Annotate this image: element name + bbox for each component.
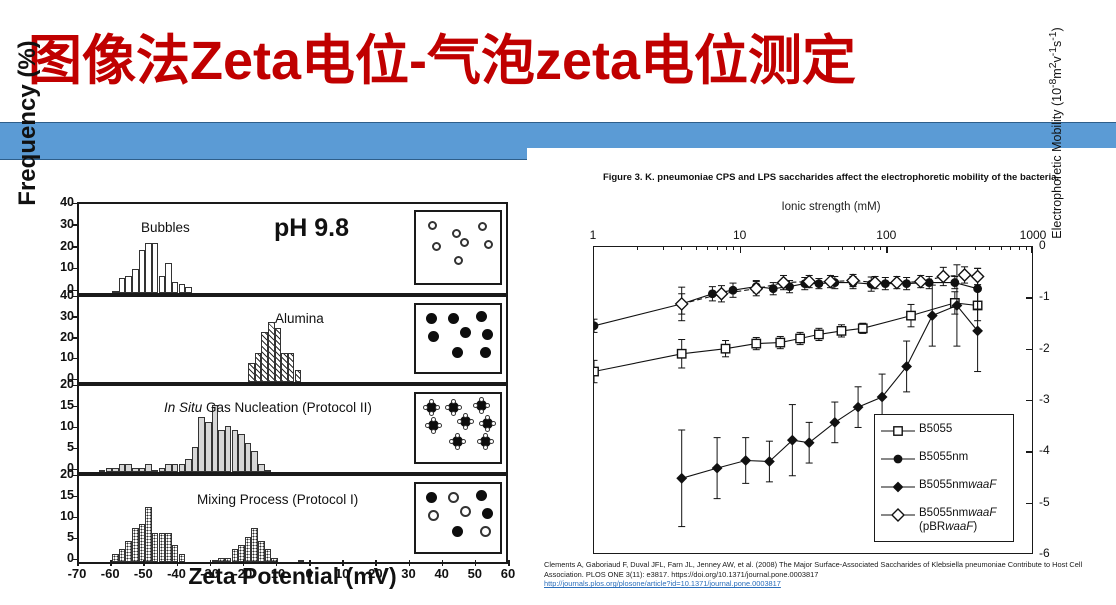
inset-satellite [479,397,484,402]
inset-particle [476,490,487,501]
series-4 [676,267,984,314]
histogram-bar [152,470,159,472]
x-tick-label: -70 [62,566,92,581]
reference-line-1: Clements A, Gaboriaud F, Duval JFL, Farn… [544,560,963,569]
histogram-bar [281,353,288,382]
x-minor-tick [696,246,697,250]
electrophoretic-mobility-figure: Figure 3. K. pneumoniae CPS and LPS sacc… [540,172,1116,605]
histogram-bar [172,464,179,472]
x-minor-tick [828,246,829,250]
data-point-marker [893,482,904,493]
y-tick-label: 40 [40,195,74,209]
histogram-bar [298,560,305,562]
y-tick-mark [1026,451,1033,452]
histogram-bar [165,263,172,293]
data-point-marker [815,330,823,338]
y-tick-label: 0 [40,551,74,565]
histogram-panel-2: Alumina [77,295,508,384]
x-minor-tick [854,246,855,250]
plot-legend: B5055B5055nmB5055nmwaaFB5055nmwaaF(pBRwa… [874,414,1014,542]
reference-block: Clements A, Gaboriaud F, Duval JFL, Farn… [544,560,1112,589]
data-point-marker [712,463,723,474]
data-point-marker [853,402,864,413]
inset-satellite [455,445,460,450]
histogram-bar [179,284,186,293]
histogram-bar [232,549,239,562]
y-tick-label: 10 [40,260,74,274]
y-tick-mark [73,385,78,387]
histogram-bar [265,470,272,472]
inset-satellite [469,419,474,424]
y-tick-mark [73,427,78,429]
histogram-bar [255,353,262,382]
data-point-marker [721,344,729,352]
data-point-marker [676,298,688,310]
inset-particle [460,238,469,247]
x-tick-label: 20 [360,566,390,581]
y-tick-mark [73,203,78,205]
x-tick-label: 10 [327,566,357,581]
histogram-bar [152,243,159,293]
x-minor-tick [637,246,638,250]
x-minor-tick [717,246,718,250]
inset-particle-box-4 [414,482,502,554]
x-tick-label: -20 [228,566,258,581]
data-point-marker [676,473,687,484]
x-tick-label: -30 [195,566,225,581]
x-minor-tick [842,246,843,250]
histogram-bar [119,549,126,562]
inset-satellite [473,403,478,408]
data-point-marker [715,288,727,300]
inset-particle-box-1 [414,210,502,285]
y-tick-mark [73,496,78,498]
inset-satellite [429,411,434,416]
histogram-bar [185,287,192,294]
x-minor-tick [810,246,811,250]
y-tick-label: 5 [40,530,74,544]
histogram-bar [152,533,159,562]
data-point-marker [594,367,598,375]
data-point-marker [752,339,760,347]
inset-satellite [489,439,494,444]
data-point-marker [894,427,902,435]
legend-label-4: B5055nmwaaF [919,507,996,519]
histogram-bar [125,276,132,293]
histogram-bar [275,328,282,382]
x-minor-tick [956,246,957,250]
inset-particle [452,347,463,358]
legend-label-3: B5055nmwaaF [919,479,996,491]
accent-bar-extension [527,122,1116,148]
inset-satellite [455,433,460,438]
x-minor-tick [733,246,734,250]
inset-particle-box-3 [414,392,502,464]
histogram-bar [145,464,152,472]
histogram-bar [198,417,205,472]
data-point-marker [894,455,903,464]
legend-marker-open-diamond [881,507,915,523]
x-tick-label: 30 [394,566,424,581]
histogram-panel-4: Mixing Process (Protocol I) [77,474,508,564]
y-tick-label: -5 [1039,495,1050,509]
y-tick-mark [73,246,78,248]
inset-satellite [449,439,454,444]
legend-label-4-line2: (pBRwaaF) [919,521,977,533]
x-tick-label: 40 [427,566,457,581]
histogram-bar [159,276,166,293]
x-minor-tick [989,246,990,250]
legend-marker-filled-diamond [881,479,915,495]
x-tick-label: 60 [493,566,523,581]
inset-satellite [479,421,484,426]
series-1 [594,290,982,383]
x-minor-tick [663,246,664,250]
data-point-marker [740,455,751,466]
histogram-bar [165,533,172,562]
histogram-bar [125,541,132,562]
y-tick-mark [73,316,78,318]
data-point-marker [837,327,845,335]
histogram-bar [251,451,258,472]
inset-satellite [461,439,466,444]
x-tick-label: 10 [720,228,760,242]
histogram-bar [288,353,295,382]
histogram-bar [218,558,225,562]
x-tick-label: -10 [261,566,291,581]
inset-satellite [451,411,456,416]
histogram-bar [251,528,258,562]
inset-satellite [485,415,490,420]
y-tick-mark [1026,297,1033,298]
data-point-marker [891,277,903,289]
histogram-bar [145,507,152,562]
data-point-marker [776,338,784,346]
histogram-bar [172,282,179,293]
y-tick-mark [73,475,78,477]
y-tick-mark [1026,400,1033,401]
right-figure-y-axis-label: Electrophoretic Mobility (10-8m2v-1s-1) [1048,0,1064,268]
data-point-marker [796,334,804,342]
histogram-bar [238,434,245,472]
inset-particle-box-2 [414,303,502,374]
x-minor-tick [681,246,682,250]
y-tick-mark [73,448,78,450]
histogram-bar [258,464,265,472]
data-point-marker [907,311,915,319]
inset-satellite [423,405,428,410]
data-point-marker [892,509,904,521]
data-point-marker [937,270,949,282]
inset-satellite [425,423,430,428]
histogram-bar [139,250,146,294]
histogram-bar [139,524,146,562]
page-title: 图像法Zeta电位-气泡zeta电位测定 [28,22,1088,100]
x-tick-mark [886,246,887,253]
inset-satellite [483,433,488,438]
histogram-bar [112,468,119,472]
histogram-bar [159,468,166,472]
x-tick-label: 0 [294,566,324,581]
y-tick-label: -6 [1039,546,1050,560]
inset-particle [480,526,491,537]
histogram-bar [218,430,225,472]
y-tick-mark [1026,553,1033,554]
legend-marker-filled-circle [881,451,915,467]
legend-label-1: B5055 [919,423,952,435]
x-minor-tick [1001,246,1002,250]
panel-label-4: Mixing Process (Protocol I) [197,492,358,507]
y-tick-label: -3 [1039,392,1050,406]
histogram-bar [225,426,232,472]
data-point-marker [950,278,959,287]
inset-satellite [431,417,436,422]
x-minor-tick [784,246,785,250]
histogram-bar [245,443,252,472]
inset-particle [428,221,437,230]
ionic-strength-axis-label: Ionic strength (mM) [550,201,1112,213]
mobility-plot-area: B5055B5055nmB5055nmwaaFB5055nmwaaF(pBRwa… [593,246,1033,554]
x-minor-tick [707,246,708,250]
inset-particle [478,222,487,231]
histogram-bar [112,291,119,293]
y-tick-mark [73,358,78,360]
ph-annotation: pH 9.8 [274,214,349,243]
histogram-bar [179,464,186,472]
inset-particle [482,329,493,340]
y-tick-label: 30 [40,309,74,323]
x-tick-label: 50 [460,566,490,581]
inset-particle [484,240,493,249]
inset-satellite [445,405,450,410]
reference-doi-link[interactable]: http://journals.plos.org/plosone/article… [544,579,1112,589]
x-tick-label: 1 [573,228,613,242]
data-point-marker [959,269,971,281]
inset-satellite [457,419,462,424]
data-point-marker [927,310,938,321]
histogram-bar [245,537,252,562]
data-point-marker [859,324,867,332]
histogram-bar [268,322,275,382]
histogram-bar [139,468,146,472]
y-tick-label: 15 [40,488,74,502]
inset-satellite [477,439,482,444]
histogram-bar [99,470,106,472]
series-line [594,283,978,326]
data-point-marker [815,279,824,288]
data-point-marker [729,286,738,295]
data-point-marker [847,275,859,287]
data-point-marker [915,276,927,288]
legend-marker-open-square [881,423,915,439]
data-point-marker [972,270,984,282]
data-point-marker [594,321,598,330]
inset-particle [452,229,461,238]
y-tick-label: -2 [1039,341,1050,355]
panel-label-1: Bubbles [141,220,190,235]
histogram-bar [119,278,126,293]
x-tick-mark [593,246,594,253]
histogram-bar [132,269,139,293]
x-tick-label: 100 [866,228,906,242]
y-tick-mark [1026,503,1033,504]
data-point-marker [902,279,911,288]
x-tick-label: -50 [128,566,158,581]
inset-particle [448,313,459,324]
y-tick-mark [73,517,78,519]
inset-satellite [431,429,436,434]
inset-particle [460,327,471,338]
histogram-bar [205,422,212,472]
inset-particle [480,347,491,358]
histogram-bar [106,468,113,472]
data-point-marker [881,279,890,288]
y-tick-mark [73,224,78,226]
histogram-bar [258,541,265,562]
inset-satellite [485,403,490,408]
data-point-marker [829,417,840,428]
inset-satellite [479,409,484,414]
histogram-bar [125,464,132,472]
data-point-marker [678,350,686,358]
x-minor-tick [880,246,881,250]
x-minor-tick [864,246,865,250]
y-tick-label: 10 [40,419,74,433]
y-tick-mark [73,296,78,298]
panel-label-2: Alumina [275,311,324,326]
histogram-bar [119,464,126,472]
inset-particle [460,506,471,517]
y-tick-label: 15 [40,398,74,412]
histogram-panel-3: In Situ Gas Nucleation (Protocol II) [77,384,508,474]
x-minor-tick [1019,246,1020,250]
histogram-panel-1: BubblespH 9.8 [77,202,508,295]
data-point-marker [804,437,815,448]
inset-particle [448,492,459,503]
y-tick-label: 20 [40,239,74,253]
y-tick-label: 20 [40,330,74,344]
left-figure-y-axis-label: Frequency (%) [14,0,42,248]
histogram-bar [145,243,152,293]
x-minor-tick [726,246,727,250]
inset-particle [428,510,439,521]
histogram-bar [192,447,199,472]
inset-satellite [437,423,442,428]
inset-particle [482,508,493,519]
histogram-bar [112,554,119,562]
y-tick-mark [73,538,78,540]
y-tick-label: 10 [40,350,74,364]
y-tick-label: 10 [40,509,74,523]
inset-particle [476,311,487,322]
histogram-bar [212,560,219,562]
zeta-potential-histogram-figure: Frequency (%) BubblespH 9.8010203040Alum… [22,196,522,586]
histogram-bar [248,363,255,382]
histogram-bar [132,468,139,472]
inset-particle [452,526,463,537]
y-tick-label: 5 [40,440,74,454]
x-minor-tick [931,246,932,250]
x-tick-label: 1000 [1013,228,1053,242]
inset-particle [454,256,463,265]
y-tick-label: -1 [1039,289,1050,303]
inset-satellite [463,413,468,418]
histogram-bar [225,558,232,562]
y-tick-label: 0 [1039,238,1046,252]
inset-satellite [485,427,490,432]
inset-satellite [491,421,496,426]
x-tick-label: -40 [162,566,192,581]
y-tick-label: 40 [40,288,74,302]
inset-satellite [451,399,456,404]
histogram-bar [232,430,239,472]
histogram-bar [132,528,139,562]
inset-satellite [435,405,440,410]
y-tick-mark [73,337,78,339]
x-minor-tick [1010,246,1011,250]
histogram-bar [261,332,268,382]
y-tick-label: 20 [40,467,74,481]
y-tick-mark [73,406,78,408]
series-line [594,303,978,372]
legend-label-2: B5055nm [919,451,968,463]
inset-satellite [429,399,434,404]
inset-satellite [463,425,468,430]
inset-satellite [483,445,488,450]
x-tick-label: -60 [95,566,125,581]
inset-particle [426,492,437,503]
y-tick-label: 20 [40,377,74,391]
histogram-bar [165,464,172,472]
accent-bar-primary [0,122,527,160]
histogram-bar [185,459,192,472]
figure-caption: Figure 3. K. pneumoniae CPS and LPS sacc… [550,172,1112,184]
data-point-marker [750,283,762,295]
histogram-bar [265,549,272,562]
histogram-bar [159,533,166,562]
x-tick-mark [740,246,741,253]
panel-label-3: In Situ Gas Nucleation (Protocol II) [164,400,372,415]
histogram-bar [179,554,186,562]
y-tick-mark [1026,349,1033,350]
y-tick-label: -4 [1039,443,1050,457]
inset-particle [432,242,441,251]
inset-particle [428,331,439,342]
inset-satellite [457,405,462,410]
y-tick-mark [1026,246,1033,247]
y-tick-label: 30 [40,217,74,231]
data-point-marker [901,361,912,372]
y-tick-mark [73,268,78,270]
x-minor-tick [872,246,873,250]
inset-particle [426,313,437,324]
histogram-bar [295,370,302,382]
x-minor-tick [975,246,976,250]
